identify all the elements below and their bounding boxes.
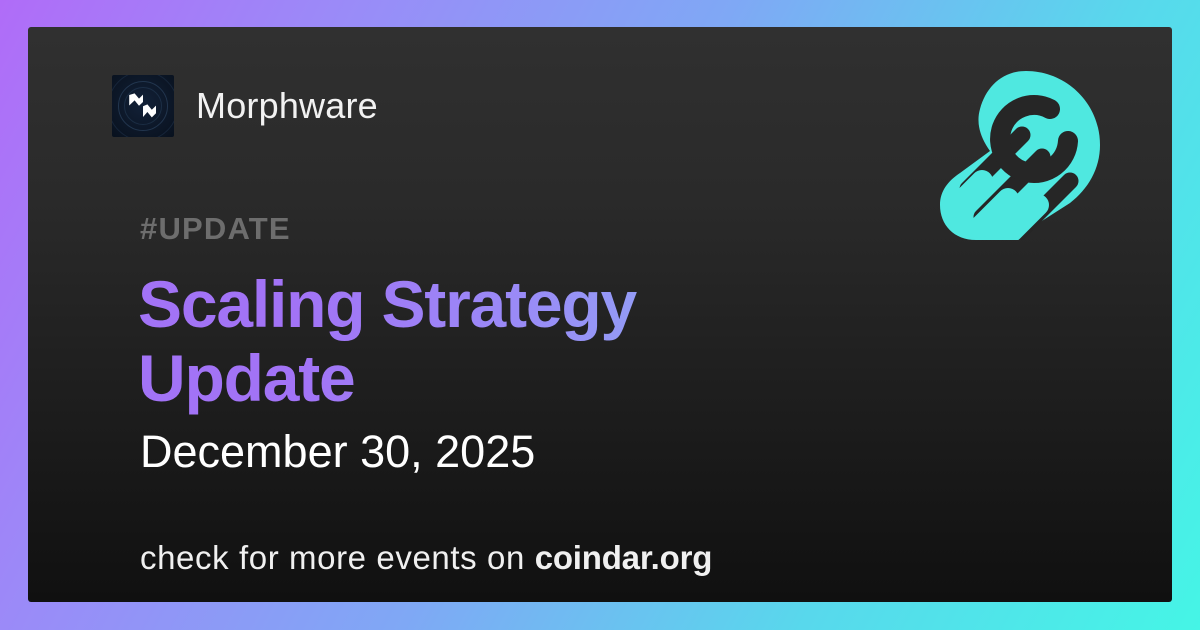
brand-row: Morphware [112, 75, 378, 137]
footer-prefix: check for more events on [140, 539, 535, 576]
event-title: Scaling Strategy Update [138, 268, 858, 416]
event-date: December 30, 2025 [140, 426, 535, 478]
footer-site-link[interactable]: coindar.org [535, 539, 713, 576]
brand-name: Morphware [196, 85, 378, 127]
event-card: Morphware [28, 27, 1172, 602]
footer-cta: check for more events on coindar.org [140, 539, 712, 577]
morphware-logo-icon [112, 75, 174, 137]
coindar-jellyfish-icon [938, 65, 1108, 240]
event-tag: #UPDATE [140, 211, 291, 247]
poster-frame: Morphware [0, 0, 1200, 630]
